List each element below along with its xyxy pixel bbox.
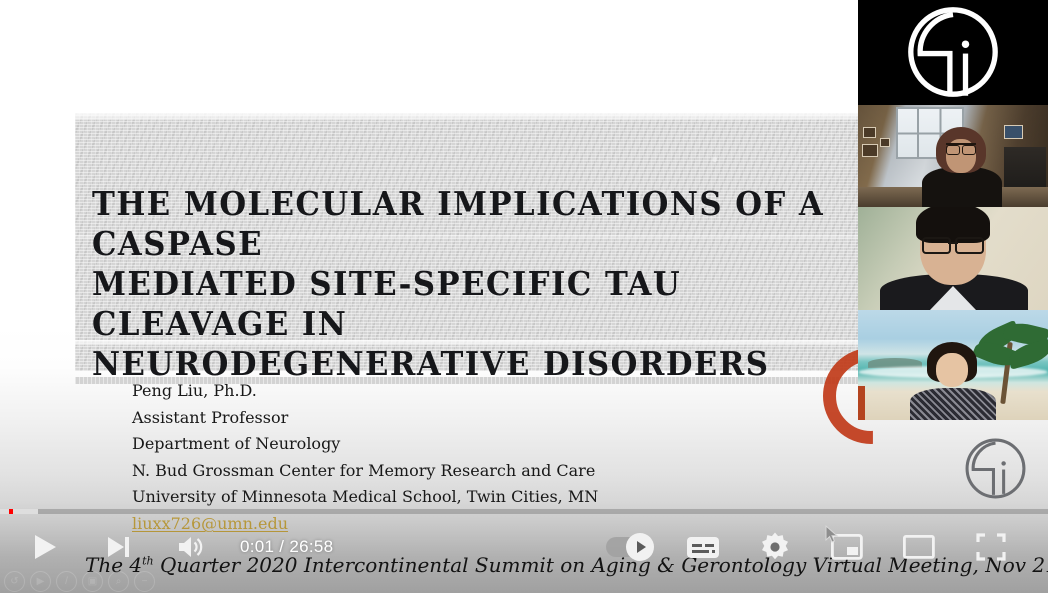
play-circle-icon: ▶ [30, 571, 51, 592]
settings-gear-icon [759, 531, 791, 563]
participant-torso [922, 167, 1002, 207]
video-player[interactable]: THE MOLECULAR IMPLICATIONS OF A CASPASE … [0, 0, 1048, 593]
autoplay-knob [626, 533, 654, 561]
presenter-line: N. Bud Grossman Center for Memory Resear… [132, 458, 852, 485]
subtitles-cc-icon [686, 533, 720, 561]
tile-edge-stripe [858, 386, 865, 420]
participant-glasses [946, 143, 976, 151]
participant-tile-man-glasses [858, 207, 1048, 310]
tile-letterbox [1014, 0, 1048, 105]
meeting-logo-tile [858, 0, 1048, 105]
time-display: 0:01 / 26:58 [240, 523, 333, 571]
volume-icon [176, 533, 206, 561]
subtitles-button[interactable] [680, 523, 726, 571]
settings-button[interactable] [752, 523, 798, 571]
minus-circle-icon: − [134, 571, 155, 592]
tile-letterbox [858, 0, 892, 105]
wall-picture [862, 144, 878, 157]
miniplayer-button[interactable] [824, 523, 870, 571]
si-monogram-icon [963, 436, 1028, 501]
next-video-button[interactable] [96, 523, 142, 571]
theater-mode-icon [903, 533, 935, 561]
presenter-line: Peng Liu, Ph.D. [132, 378, 852, 405]
participant-torso [910, 388, 996, 420]
overlay-icon-row: ↺ ▶ / ▣ ⌕ − [4, 570, 155, 593]
autoplay-track [606, 537, 650, 557]
camera-circle-icon: ▣ [82, 571, 103, 592]
progress-played [9, 509, 13, 514]
participant-strip [858, 0, 1048, 420]
progress-buffered [0, 509, 38, 514]
fullscreen-button[interactable] [968, 523, 1014, 571]
play-small-icon [637, 541, 646, 553]
miniplayer-icon [831, 533, 863, 561]
player-controls: 0:01 / 26:58 [0, 523, 1048, 571]
replay-icon: ↺ [4, 571, 25, 592]
participant-glasses [922, 237, 984, 250]
glasses-bridge [948, 242, 958, 244]
play-button[interactable] [22, 523, 68, 571]
wall-picture [863, 127, 876, 138]
theater-mode-button[interactable] [896, 523, 942, 571]
progress-bar[interactable] [0, 509, 1048, 514]
wall-picture [880, 138, 890, 147]
slide-title: THE MOLECULAR IMPLICATIONS OF A CASPASE … [92, 184, 836, 384]
autoplay-toggle[interactable] [598, 523, 658, 571]
slash-circle-icon: / [56, 571, 77, 592]
participant-tile-beach-background [858, 310, 1048, 420]
presenter-line: Assistant Professor [132, 405, 852, 432]
band-highlight-line [75, 113, 865, 120]
si-monogram-icon [903, 2, 1003, 102]
participant-head [927, 342, 977, 382]
participant-tile-office-webcam [858, 105, 1048, 207]
presenter-line: Department of Neurology [132, 431, 852, 458]
presenter-line: University of Minnesota Medical School, … [132, 484, 852, 511]
fullscreen-icon [976, 532, 1006, 562]
search-circle-icon: ⌕ [108, 571, 129, 592]
next-video-icon [105, 533, 133, 561]
play-icon [30, 532, 60, 562]
wall-picture [1004, 125, 1023, 139]
volume-button[interactable] [168, 523, 214, 571]
